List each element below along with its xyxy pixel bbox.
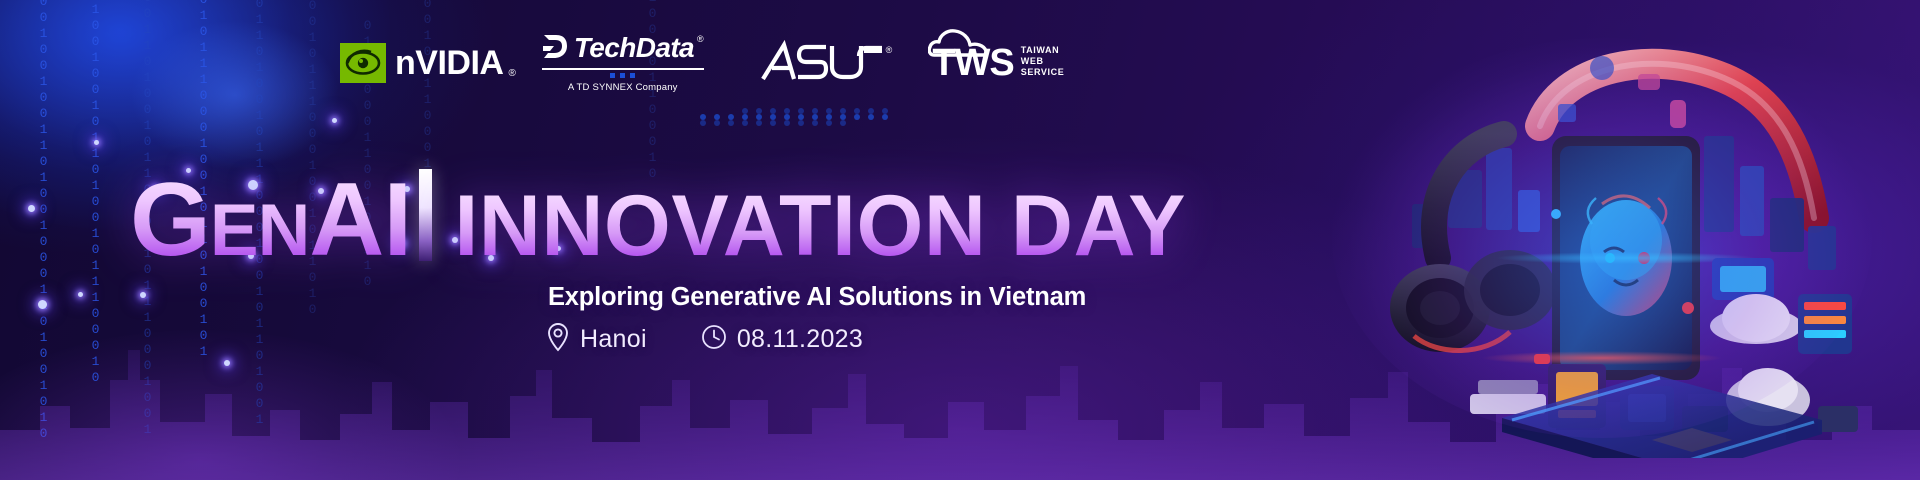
techdata-registered: ® [697,34,704,44]
cloud-icon [928,25,998,62]
nvidia-wordmark: nVIDIA [395,44,503,83]
event-location: Hanoi [546,322,647,357]
techdata-dots [542,73,704,78]
techdata-wordmark: TechData [574,32,694,64]
subtitle: Exploring Generative AI Solutions in Vie… [548,283,1086,312]
matrix-dot [798,120,804,126]
techdata-tagline: A TD SYNNEX Company [542,82,704,93]
event-location-value: Hanoi [580,325,647,354]
tws-sublines: TAIWAN WEB SERVICE [1021,45,1065,81]
illustration-glow [1332,38,1872,438]
matrix-dot [770,120,776,126]
asus-wordmark [760,39,884,88]
headline-divider-bar [419,169,432,261]
ai-tech-isometric-illustration [1352,8,1872,458]
headline-brand: GenAI [130,175,411,267]
asus-registered: ® [886,45,893,55]
techdata-top-row: TechData ® [542,32,704,65]
particle [140,292,146,298]
matrix-dot [826,120,832,126]
matrix-dot [728,120,734,126]
genai-innovation-day-banner: 0010010011010010001101001010101001001011… [0,0,1920,480]
nvidia-logo[interactable]: nVIDIA ® [340,43,516,83]
particle [28,205,35,212]
particle [38,300,47,309]
matrix-dot [714,120,720,126]
techdata-d-glyph [542,32,568,65]
matrix-dot [784,120,790,126]
partner-logo-bar: nVIDIA ® TechData ® A TD SYNNEX Company [340,30,1064,96]
tws-subline-3: SERVICE [1021,67,1065,78]
asus-logo[interactable]: ® [760,39,893,88]
tws-subline-2: WEB [1021,56,1065,67]
matrix-dot [840,120,846,126]
techdata-rule [542,68,704,70]
tws-subline-1: TAIWAN [1021,45,1065,56]
matrix-dot [742,120,748,126]
headline-title: INNOVATION DAY [454,188,1186,265]
dot-matrix-decoration [700,108,896,126]
nvidia-eye-icon [340,43,386,83]
event-date-value: 08.11.2023 [737,325,863,354]
tws-logo[interactable]: TWS TAIWAN WEB SERVICE [932,45,1064,81]
matrix-dot [700,120,706,126]
event-meta-row: Hanoi 08.11.2023 [546,322,863,357]
matrix-dot [812,120,818,126]
techdata-logo[interactable]: TechData ® A TD SYNNEX Company [542,32,704,95]
particle [332,118,337,123]
nvidia-trademark: ® [508,68,515,79]
location-pin-icon [546,322,570,357]
matrix-dot [756,120,762,126]
particle [78,292,83,297]
event-date: 08.11.2023 [701,324,863,355]
particle [94,140,99,145]
headline: GenAI INNOVATION DAY [130,175,1186,267]
clock-icon [701,324,727,355]
